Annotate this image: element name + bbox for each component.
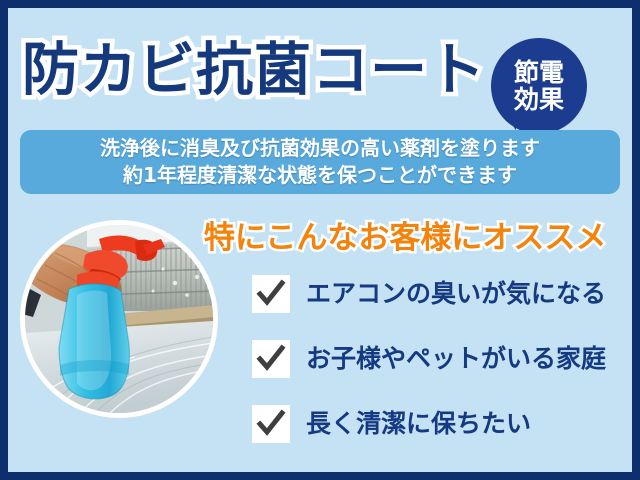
list-item-label: エアコンの臭いが気になる <box>306 279 606 309</box>
description-banner: 洗浄後に消臭及び抗菌効果の高い薬剤を塗ります 約1年程度清潔な状態を保つことがで… <box>20 130 620 194</box>
list-item: エアコンの臭いが気になる <box>252 272 624 316</box>
header-row: 防カビ抗菌コート 節電 効果 <box>8 30 632 116</box>
list-item: 長く清潔に保ちたい <box>252 402 624 446</box>
page-title: 防カビ抗菌コート <box>22 34 486 106</box>
product-photo <box>20 220 218 418</box>
badge-line-1: 節電 <box>514 59 564 86</box>
check-icon <box>252 275 290 313</box>
list-item-label: 長く清潔に保ちたい <box>306 409 531 439</box>
spray-bottle-photo-illustration <box>25 225 213 413</box>
promo-banner: 防カビ抗菌コート 節電 効果 洗浄後に消臭及び抗菌効果の高い薬剤を塗ります 約1… <box>0 0 640 480</box>
list-item: お子様やペットがいる家庭 <box>252 337 624 381</box>
recommend-heading: 特にこんなお客様にオススメ <box>204 218 606 258</box>
description-line-2: 約1年程度清潔な状態を保つことができます <box>123 162 517 189</box>
recommend-list: エアコンの臭いが気になる お子様やペットがいる家庭 長く清潔に保ちたい <box>252 272 624 467</box>
badge-line-2: 効果 <box>514 86 564 113</box>
description-line-1: 洗浄後に消臭及び抗菌効果の高い薬剤を塗ります <box>100 135 540 162</box>
status-badge: 節電 効果 <box>491 38 587 134</box>
check-icon <box>252 340 290 378</box>
badge-text: 節電 効果 <box>491 38 587 134</box>
banner-inner-panel: 防カビ抗菌コート 節電 効果 洗浄後に消臭及び抗菌効果の高い薬剤を塗ります 約1… <box>8 8 632 472</box>
list-item-label: お子様やペットがいる家庭 <box>306 344 606 374</box>
check-icon <box>252 405 290 443</box>
